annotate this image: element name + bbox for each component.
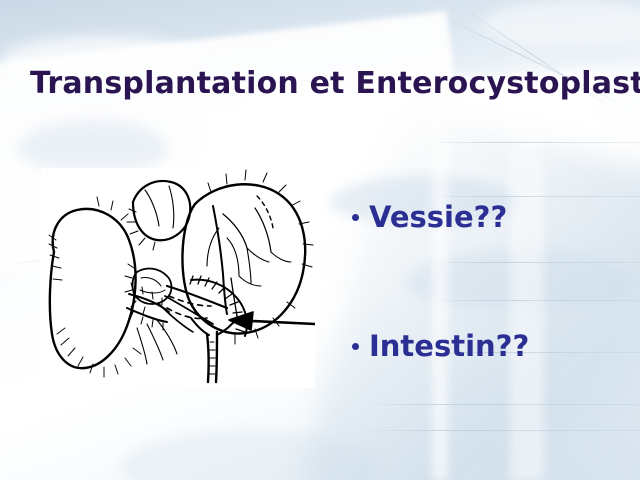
background-hairline [360,404,640,405]
bullet-item: Vessie?? [352,200,507,234]
background-hairline [430,262,640,263]
background-hairline [430,142,640,143]
page-title: Transplantation et Enterocystoplastie [30,66,620,101]
bullet-dot-icon [352,343,359,350]
kidney-bladder-anastomosis-illustration [41,168,315,388]
background-hairline [360,430,640,431]
background-cloud-shape [18,120,168,172]
slide: Transplantation et Enterocystoplastie Ve… [0,0,640,480]
bullet-label: Intestin?? [369,329,529,363]
background-hairline [430,300,640,301]
background-hairline [430,196,640,197]
bullet-label: Vessie?? [369,200,507,234]
kidney-bladder-anastomosis-diagram [41,168,315,388]
bullet-item: Intestin?? [352,329,529,363]
bullet-dot-icon [352,214,359,221]
